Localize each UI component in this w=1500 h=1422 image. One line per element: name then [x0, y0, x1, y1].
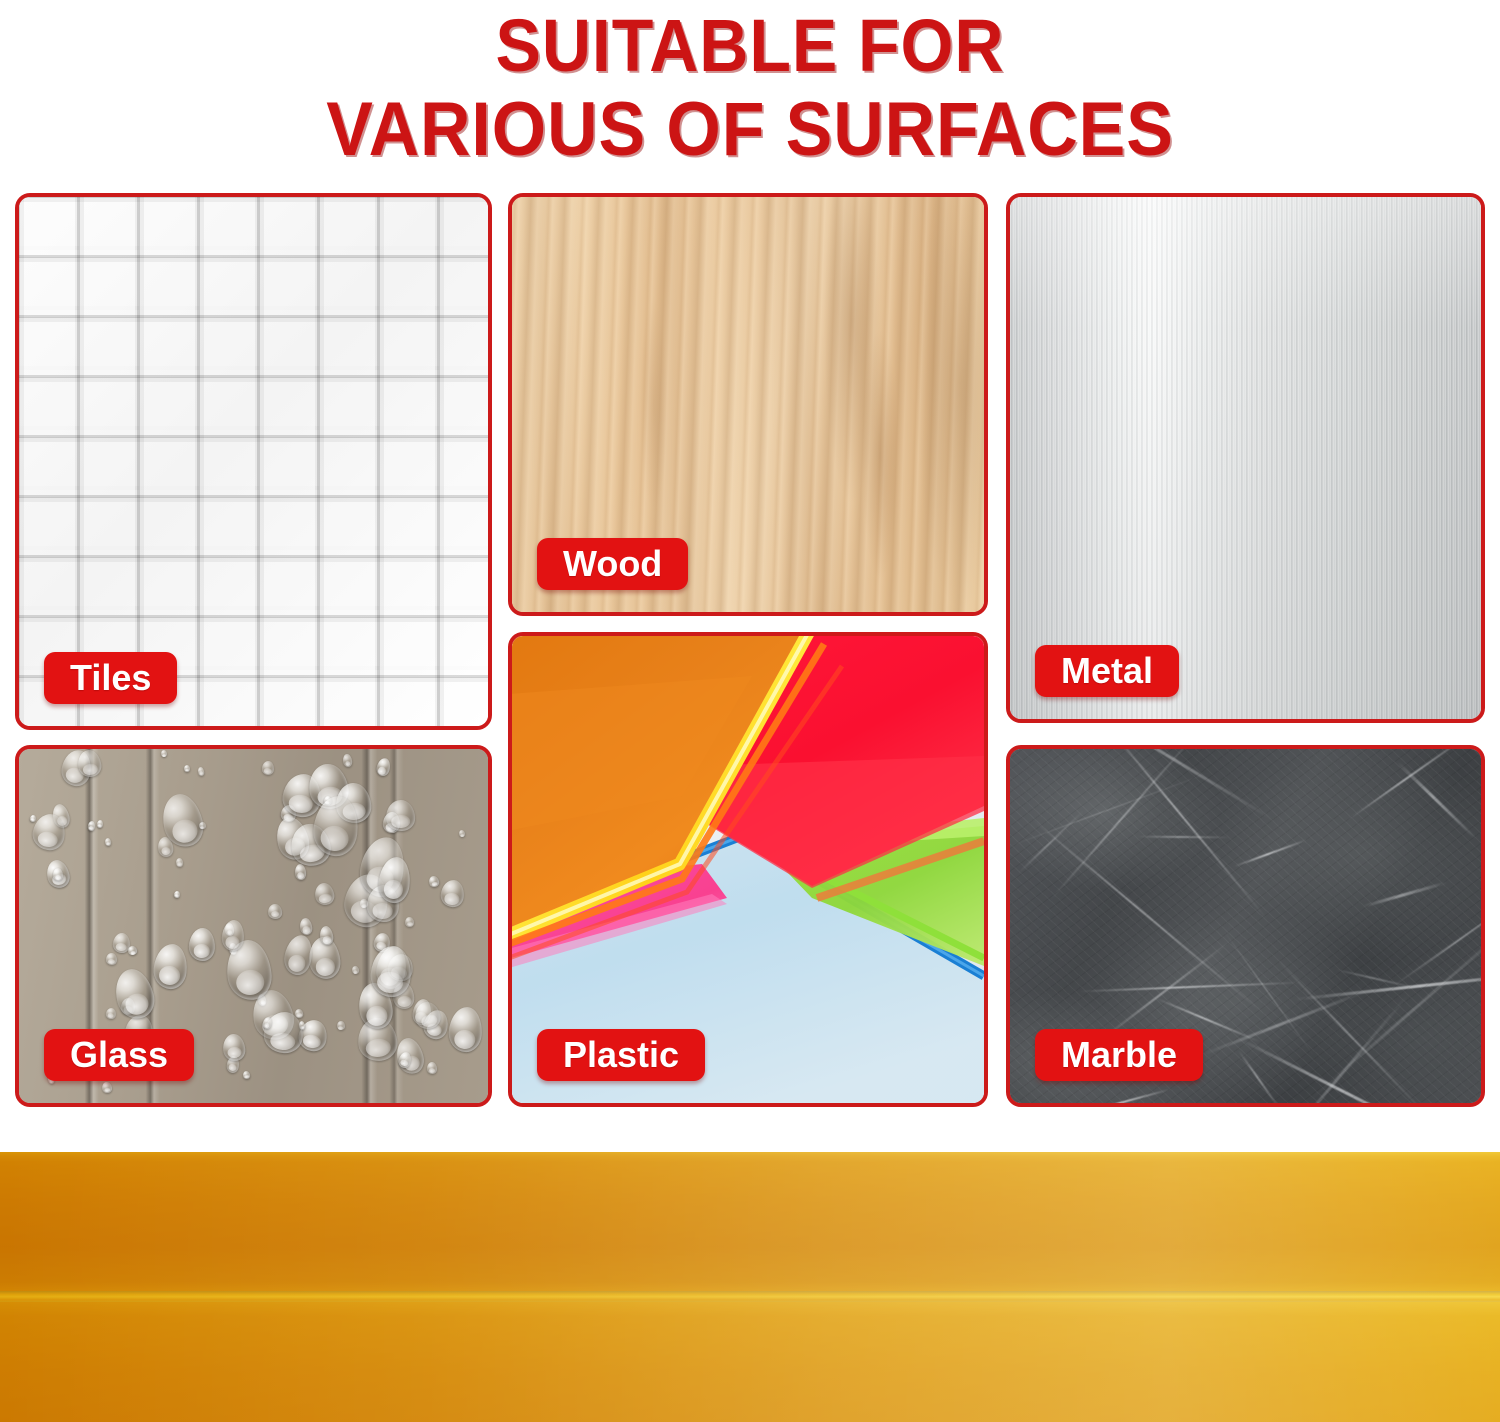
page-title: SUITABLE FOR VARIOUS OF SURFACES: [0, 4, 1500, 172]
badge-glass: Glass: [44, 1029, 194, 1081]
surface-card-marble: Marble: [1006, 745, 1485, 1107]
badge-marble: Marble: [1035, 1029, 1203, 1081]
marble-vein: [1294, 968, 1485, 1000]
badge-metal-label: Metal: [1061, 653, 1153, 689]
marble-vein: [1234, 838, 1308, 867]
marble-vein: [1079, 981, 1302, 992]
water-droplet: [386, 800, 416, 832]
water-droplet: [106, 953, 117, 966]
marble-vein: [1397, 761, 1478, 840]
badge-tiles: Tiles: [44, 652, 177, 704]
badge-marble-label: Marble: [1061, 1037, 1177, 1073]
marble-vein: [1032, 819, 1264, 1014]
marble-vein: [1083, 1089, 1170, 1107]
badge-plastic: Plastic: [537, 1029, 705, 1081]
blade-upper-band: [0, 1152, 1500, 1293]
water-droplet: [96, 820, 103, 828]
water-droplet: [336, 1021, 344, 1030]
title-line-2: VARIOUS OF SURFACES: [60, 88, 1440, 172]
marble-vein: [1453, 917, 1485, 1107]
badge-glass-label: Glass: [70, 1037, 168, 1073]
marble-vein: [1362, 881, 1447, 907]
title-line-1: SUITABLE FOR: [60, 4, 1440, 88]
water-droplet: [199, 821, 206, 828]
marble-vein: [1006, 771, 1213, 848]
marble-vein: [1336, 969, 1418, 990]
surface-card-metal: Metal: [1006, 193, 1485, 723]
marble-vein: [1085, 745, 1273, 820]
water-droplet: [176, 858, 183, 867]
marble-vein: [1223, 930, 1315, 1057]
badge-metal: Metal: [1035, 645, 1179, 697]
badge-wood: Wood: [537, 538, 688, 590]
marble-vein: [1049, 745, 1202, 901]
water-droplet: [184, 765, 190, 772]
marble-vein: [1203, 989, 1369, 1056]
surface-card-wood: Wood: [508, 193, 988, 616]
marble-vein: [1275, 958, 1431, 1107]
surface-card-plastic: Plastic: [508, 632, 988, 1107]
marble-vein: [1346, 745, 1476, 821]
water-droplet: [261, 760, 274, 775]
badge-wood-label: Wood: [563, 546, 662, 582]
marble-vein: [1394, 885, 1485, 986]
marble-vein: [1237, 1037, 1469, 1107]
yellow-squeegee-blade: [0, 1152, 1500, 1422]
badge-plastic-label: Plastic: [563, 1037, 679, 1073]
metal-texture: [1010, 197, 1481, 719]
marble-vein: [1307, 898, 1485, 1103]
marble-vein: [1018, 810, 1084, 873]
marble-vein: [1101, 745, 1268, 920]
tiles-texture: [19, 197, 488, 726]
water-droplet: [267, 903, 282, 919]
infographic-page: SUITABLE FOR VARIOUS OF SURFACES Tiles W…: [0, 0, 1500, 1422]
marble-vein: [1137, 836, 1230, 839]
surface-card-glass: Glass: [15, 745, 492, 1107]
water-droplet: [188, 928, 215, 962]
marble-vein: [1237, 1049, 1280, 1107]
marble-vein: [1274, 992, 1410, 1107]
surface-card-tiles: Tiles: [15, 193, 492, 730]
badge-tiles-label: Tiles: [70, 660, 151, 696]
marble-vein: [1097, 939, 1232, 1042]
blade-lower-band: [0, 1302, 1500, 1422]
